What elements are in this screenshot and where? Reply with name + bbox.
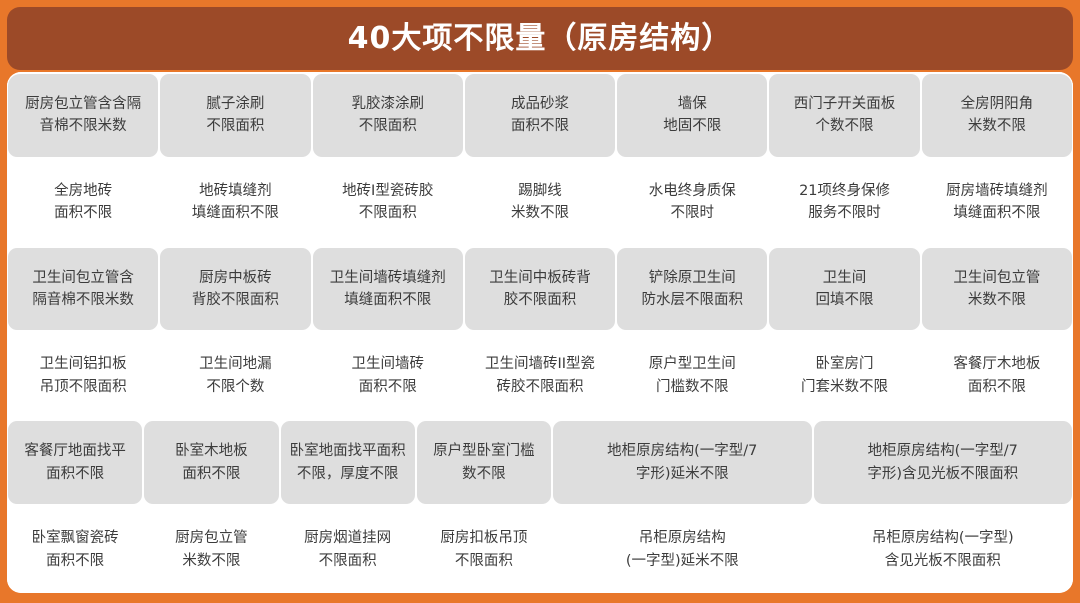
table-cell-text: 厨房包立管 米数不限 — [149, 527, 273, 572]
table-cell-text: 墙保 地固不限 — [622, 93, 762, 138]
table-cell: 全房地砖 面积不限 — [8, 161, 158, 244]
table-cell: 卫生间中板砖背 胶不限面积 — [465, 248, 615, 331]
table-row: 卫生间包立管含 隔音棉不限米数厨房中板砖 背胶不限面积卫生间墙砖填缝剂 填缝面积… — [7, 246, 1073, 333]
table-cell-text: 地柜原房结构(一字型/7 字形)延米不限 — [558, 440, 807, 485]
table-cell: 地柜原房结构(一字型/7 字形)延米不限 — [553, 421, 812, 504]
table-cell: 地柜原房结构(一字型/7 字形)含见光板不限面积 — [814, 421, 1073, 504]
table-cell: 厨房扣板吊顶 不限面积 — [417, 508, 551, 591]
table-cell: 全房阴阳角 米数不限 — [922, 74, 1072, 157]
table-cell-text: 腻子涂刷 不限面积 — [165, 93, 305, 138]
table-row: 全房地砖 面积不限地砖填缝剂 填缝面积不限地砖I型瓷砖胶 不限面积踢脚线 米数不… — [7, 159, 1073, 246]
table-cell-text: 卧室木地板 面积不限 — [149, 440, 273, 485]
table-cell: 吊柜原房结构(一字型) 含见光板不限面积 — [814, 508, 1073, 591]
table-cell: 卧室木地板 面积不限 — [144, 421, 278, 504]
table-cell-text: 西门子开关面板 个数不限 — [774, 93, 914, 138]
table-cell: 厨房烟道挂网 不限面积 — [281, 508, 415, 591]
promo-poster: 40大项不限量（原房结构） 厨房包立管含含隔 音棉不限米数腻子涂刷 不限面积乳胶… — [0, 0, 1080, 603]
table-cell: 客餐厅地面找平 面积不限 — [8, 421, 142, 504]
table-cell-text: 地砖填缝剂 填缝面积不限 — [165, 180, 305, 225]
table-cell: 地砖填缝剂 填缝面积不限 — [160, 161, 310, 244]
table-cell-text: 铲除原卫生间 防水层不限面积 — [622, 267, 762, 312]
table-cell-text: 地砖I型瓷砖胶 不限面积 — [318, 180, 458, 225]
table-cell: 厨房中板砖 背胶不限面积 — [160, 248, 310, 331]
table-cell: 腻子涂刷 不限面积 — [160, 74, 310, 157]
table-row: 厨房包立管含含隔 音棉不限米数腻子涂刷 不限面积乳胶漆涂刷 不限面积成品砂浆 面… — [7, 72, 1073, 159]
table-cell-text: 卫生间墙砖 面积不限 — [318, 353, 458, 398]
table-cell-text: 成品砂浆 面积不限 — [470, 93, 610, 138]
table-cell-text: 卫生间铝扣板 吊顶不限面积 — [13, 353, 153, 398]
table-row: 客餐厅地面找平 面积不限卧室木地板 面积不限卧室地面找平面积 不限，厚度不限原户… — [7, 419, 1073, 506]
table-cell-text: 卧室飘窗瓷砖 面积不限 — [13, 527, 137, 572]
table-cell: 地砖I型瓷砖胶 不限面积 — [313, 161, 463, 244]
table-row: 卫生间铝扣板 吊顶不限面积卫生间地漏 不限个数卫生间墙砖 面积不限卫生间墙砖II… — [7, 332, 1073, 419]
table-cell-text: 厨房中板砖 背胶不限面积 — [165, 267, 305, 312]
table-cell: 卫生间墙砖 面积不限 — [313, 334, 463, 417]
table-cell-text: 厨房墙砖填缝剂 填缝面积不限 — [927, 180, 1067, 225]
table-cell: 卧室飘窗瓷砖 面积不限 — [8, 508, 142, 591]
table-cell: 水电终身质保 不限时 — [617, 161, 767, 244]
table-cell-text: 卫生间中板砖背 胶不限面积 — [470, 267, 610, 312]
table-cell: 成品砂浆 面积不限 — [465, 74, 615, 157]
table-cell-text: 全房地砖 面积不限 — [13, 180, 153, 225]
table-cell: 21项终身保修 服务不限时 — [769, 161, 919, 244]
table-cell: 卧室地面找平面积 不限，厚度不限 — [281, 421, 415, 504]
table-cell: 卫生间墙砖II型瓷 砖胶不限面积 — [465, 334, 615, 417]
benefits-table: 厨房包立管含含隔 音棉不限米数腻子涂刷 不限面积乳胶漆涂刷 不限面积成品砂浆 面… — [7, 72, 1073, 593]
table-cell: 卫生间 回填不限 — [769, 248, 919, 331]
table-cell: 铲除原卫生间 防水层不限面积 — [617, 248, 767, 331]
table-cell: 原户型卧室门槛 数不限 — [417, 421, 551, 504]
table-cell-text: 卫生间包立管 米数不限 — [927, 267, 1067, 312]
table-cell-text: 踢脚线 米数不限 — [470, 180, 610, 225]
table-cell: 卫生间包立管 米数不限 — [922, 248, 1072, 331]
table-cell: 吊柜原房结构 (一字型)延米不限 — [553, 508, 812, 591]
table-cell-text: 吊柜原房结构(一字型) 含见光板不限面积 — [819, 527, 1068, 572]
table-cell-text: 原户型卫生间 门槛数不限 — [622, 353, 762, 398]
table-cell-text: 厨房包立管含含隔 音棉不限米数 — [13, 93, 153, 138]
page-title: 40大项不限量（原房结构） — [348, 24, 733, 54]
table-cell: 厨房墙砖填缝剂 填缝面积不限 — [922, 161, 1072, 244]
table-cell-text: 水电终身质保 不限时 — [622, 180, 762, 225]
table-cell: 卫生间包立管含 隔音棉不限米数 — [8, 248, 158, 331]
table-cell-text: 客餐厅木地板 面积不限 — [927, 353, 1067, 398]
table-cell-text: 卫生间 回填不限 — [774, 267, 914, 312]
table-cell-text: 原户型卧室门槛 数不限 — [422, 440, 546, 485]
table-cell-text: 卫生间墙砖填缝剂 填缝面积不限 — [318, 267, 458, 312]
table-row: 卧室飘窗瓷砖 面积不限厨房包立管 米数不限厨房烟道挂网 不限面积厨房扣板吊顶 不… — [7, 506, 1073, 593]
table-cell-text: 21项终身保修 服务不限时 — [774, 180, 914, 225]
table-cell: 卫生间墙砖填缝剂 填缝面积不限 — [313, 248, 463, 331]
table-cell: 卫生间地漏 不限个数 — [160, 334, 310, 417]
table-cell-text: 厨房烟道挂网 不限面积 — [286, 527, 410, 572]
table-cell: 卫生间铝扣板 吊顶不限面积 — [8, 334, 158, 417]
table-cell: 踢脚线 米数不限 — [465, 161, 615, 244]
table-cell-text: 卧室房门 门套米数不限 — [774, 353, 914, 398]
table-cell: 墙保 地固不限 — [617, 74, 767, 157]
table-cell-text: 吊柜原房结构 (一字型)延米不限 — [558, 527, 807, 572]
table-cell: 卧室房门 门套米数不限 — [769, 334, 919, 417]
table-cell: 客餐厅木地板 面积不限 — [922, 334, 1072, 417]
table-cell: 厨房包立管 米数不限 — [144, 508, 278, 591]
table-cell-text: 乳胶漆涂刷 不限面积 — [318, 93, 458, 138]
table-cell: 厨房包立管含含隔 音棉不限米数 — [8, 74, 158, 157]
table-cell-text: 客餐厅地面找平 面积不限 — [13, 440, 137, 485]
table-cell-text: 卧室地面找平面积 不限，厚度不限 — [286, 440, 410, 485]
table-cell-text: 全房阴阳角 米数不限 — [927, 93, 1067, 138]
table-cell-text: 卫生间地漏 不限个数 — [165, 353, 305, 398]
table-cell-text: 卫生间包立管含 隔音棉不限米数 — [13, 267, 153, 312]
header-banner: 40大项不限量（原房结构） — [7, 7, 1073, 70]
table-cell-text: 厨房扣板吊顶 不限面积 — [422, 527, 546, 572]
table-cell: 原户型卫生间 门槛数不限 — [617, 334, 767, 417]
table-cell: 乳胶漆涂刷 不限面积 — [313, 74, 463, 157]
table-cell-text: 卫生间墙砖II型瓷 砖胶不限面积 — [470, 353, 610, 398]
table-cell: 西门子开关面板 个数不限 — [769, 74, 919, 157]
table-cell-text: 地柜原房结构(一字型/7 字形)含见光板不限面积 — [819, 440, 1068, 485]
